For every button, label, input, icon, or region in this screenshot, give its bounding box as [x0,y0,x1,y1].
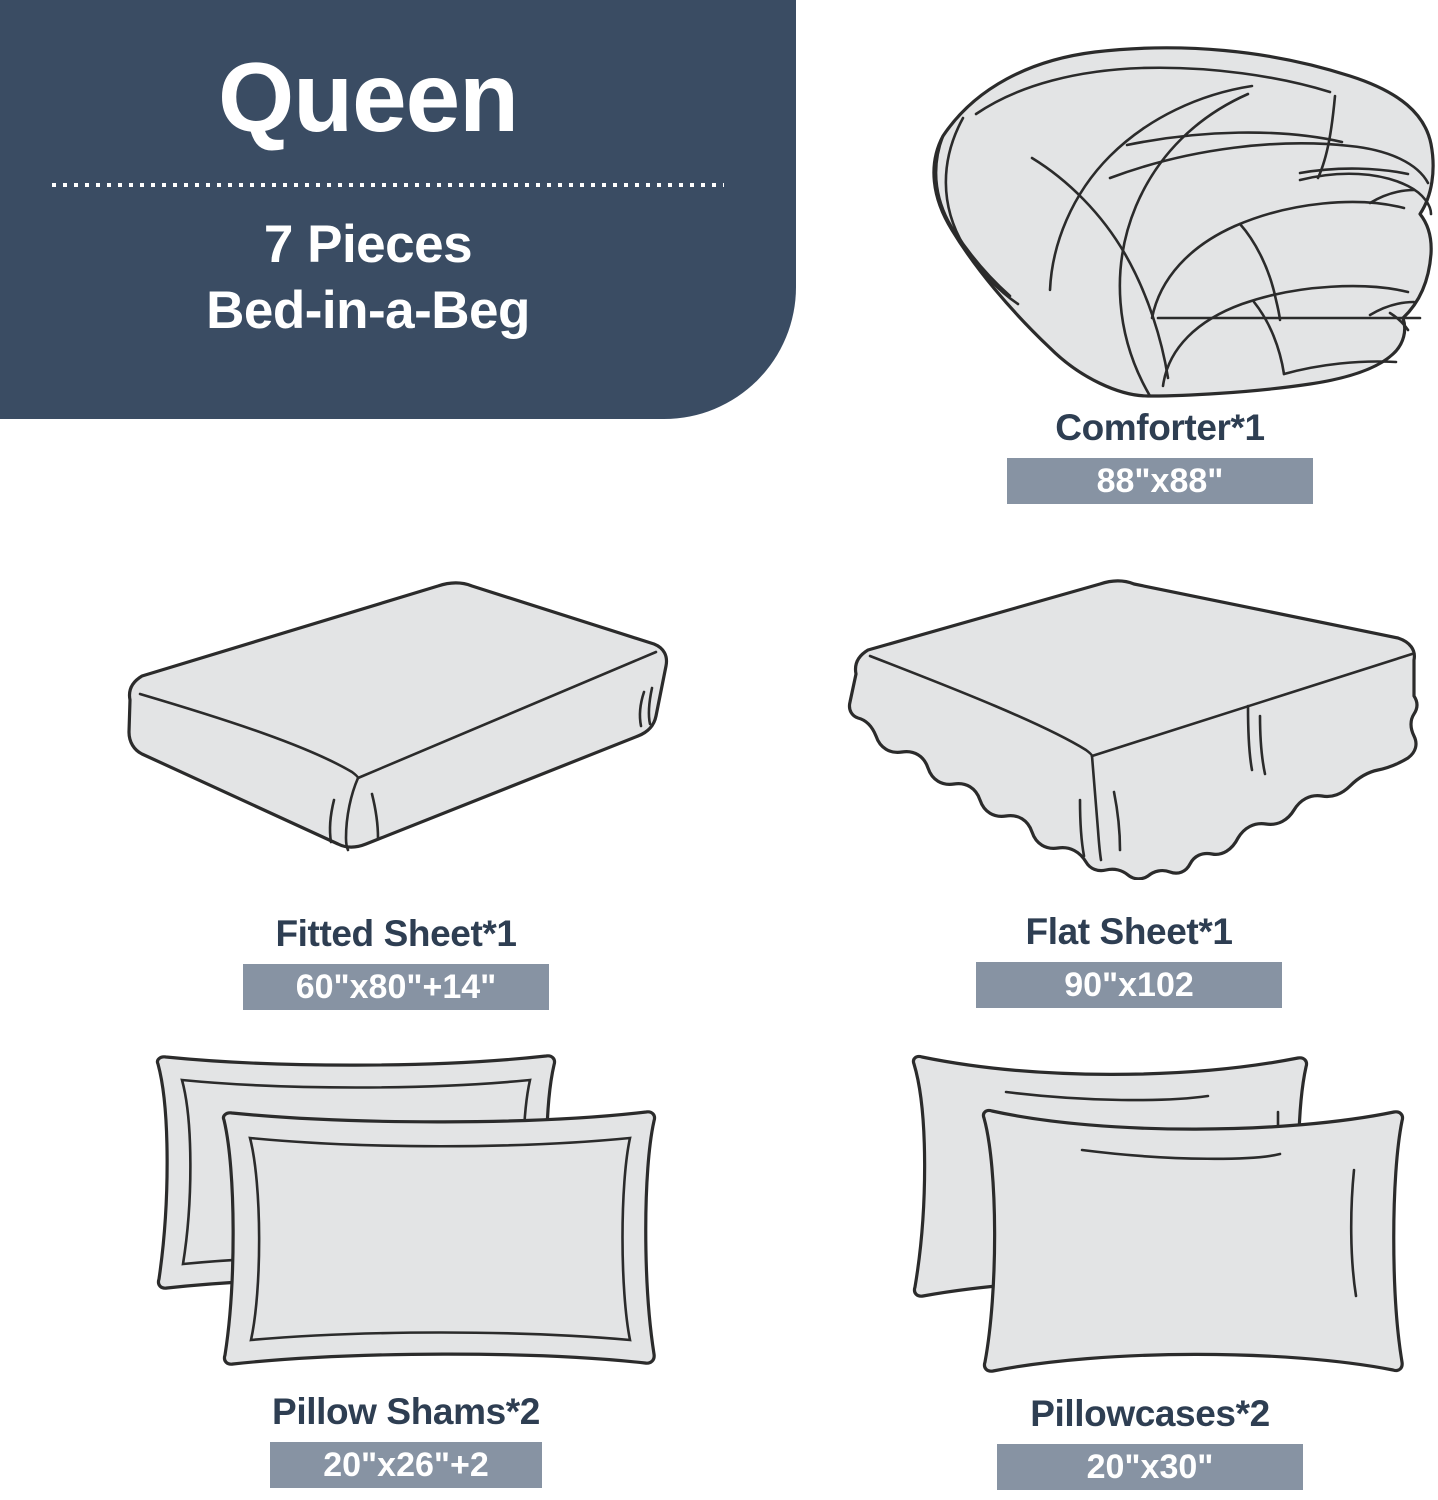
fitted-sheet-illustration-wrap [108,572,684,874]
product-cell-pillowcases: Pillowcases*2 20"x30" [886,1044,1414,1490]
size-badge-pillowcases: 20"x30" [997,1444,1303,1490]
pillowcases-illustration-wrap [886,1044,1414,1378]
item-label-pillowcases: Pillowcases*2 [886,1394,1414,1435]
product-cell-pillow-shams: Pillow Shams*2 20"x26"+2 [136,1042,676,1488]
header-panel: Queen 7 Pieces Bed-in-a-Beg [0,0,796,419]
pieces-subtitle-line-1: 7 Pieces [0,212,736,278]
size-badge-flat-sheet: 90"x102 [976,962,1282,1008]
item-label-pillow-shams: Pillow Shams*2 [136,1392,676,1433]
fitted-sheet-icon [108,572,684,874]
item-label-fitted-sheet: Fitted Sheet*1 [108,914,684,955]
size-badge-comforter: 88"x88" [1007,458,1313,504]
pillow-shams-icon [136,1042,676,1376]
page-title: Queen [0,46,796,149]
folded-comforter-icon [880,18,1438,400]
flat-sheet-icon [818,578,1438,880]
item-label-comforter: Comforter*1 [880,408,1438,449]
item-label-flat-sheet: Flat Sheet*1 [818,912,1438,953]
size-badge-pillow-shams: 20"x26"+2 [270,1442,542,1488]
dotted-divider-icon [52,183,724,187]
product-cell-flat-sheet: Flat Sheet*1 90"x102 [818,578,1438,1008]
pillowcases-icon [886,1044,1414,1378]
product-cell-fitted-sheet: Fitted Sheet*1 60"x80"+14" [108,572,684,1010]
comforter-illustration-wrap [880,18,1438,400]
pieces-subtitle: 7 Pieces Bed-in-a-Beg [0,212,796,345]
flat-sheet-illustration-wrap [818,578,1438,880]
product-cell-comforter: Comforter*1 88"x88" [880,18,1438,504]
pieces-subtitle-line-2: Bed-in-a-Beg [0,278,736,344]
size-badge-fitted-sheet: 60"x80"+14" [243,964,549,1010]
pillow-shams-illustration-wrap [136,1042,676,1376]
